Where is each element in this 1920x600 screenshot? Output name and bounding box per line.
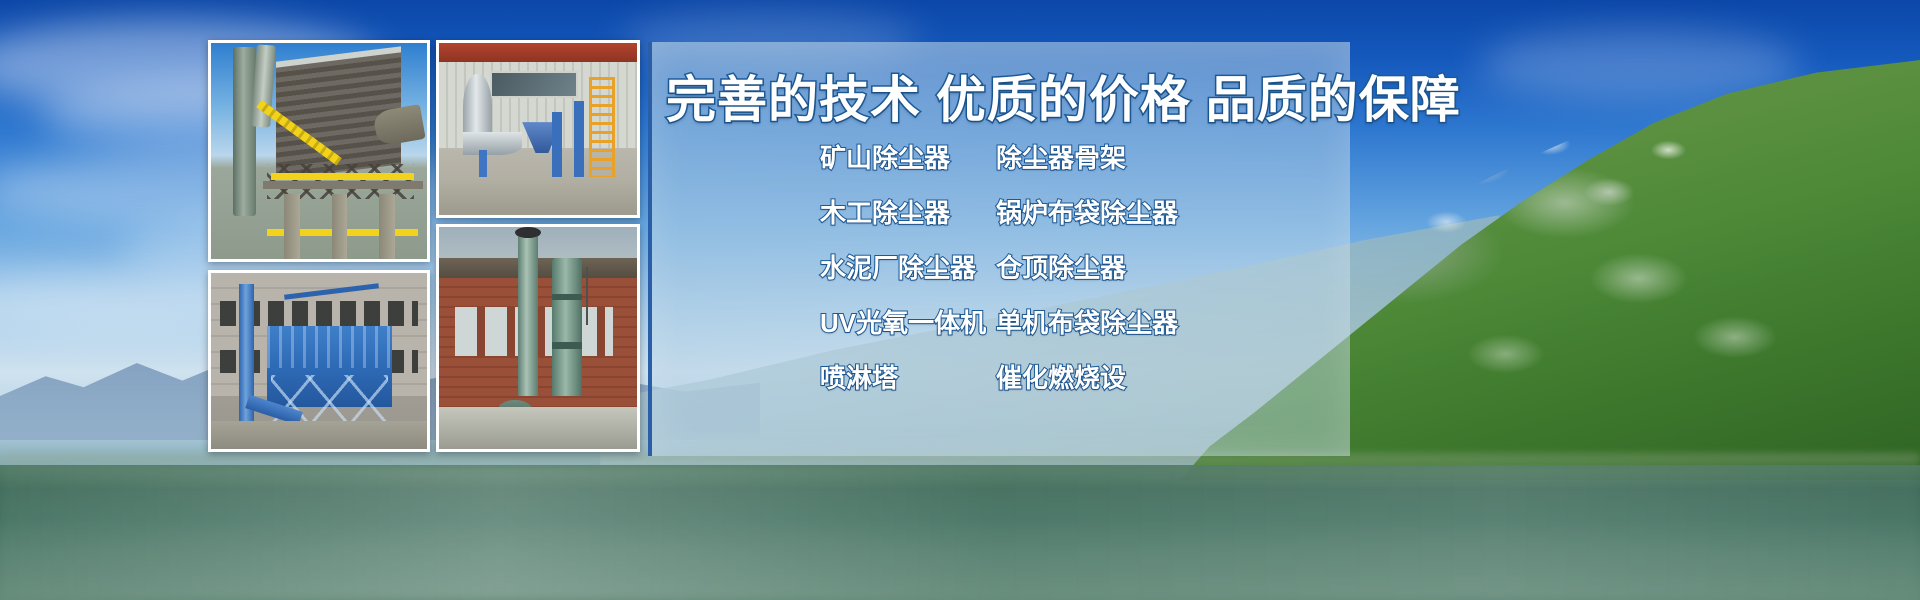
platform-deck [263,181,423,189]
product-name-left: 木工除尘器 [820,193,996,230]
product-photo-4[interactable] [436,224,640,452]
concrete-column [284,194,299,259]
product-name-left: 喷淋塔 [820,358,996,395]
product-photo-2[interactable] [436,40,640,218]
product-photo-1[interactable] [208,40,430,262]
blue-bag-filter-unit-image [211,273,427,449]
tall-exhaust-stack [518,231,538,395]
product-photo-3[interactable] [208,270,430,452]
orange-ladder [589,77,615,184]
scrubber-tower [552,258,582,396]
workshop-window [490,71,577,99]
housing-ribs [267,326,392,368]
ground-surface [439,177,637,215]
scrubber-towers-brick-plant-image [439,227,637,449]
product-photo-grid [208,40,640,452]
product-name-right: 单机布袋除尘器 [996,303,1178,340]
chimney-stack-icon [233,47,257,215]
stack-cap [515,227,541,238]
text-panel: 完善的技术 优质的价格 品质的保障 矿山除尘器 除尘器骨架 木工除尘器 锅炉布袋… [648,42,1350,456]
product-row: 矿山除尘器 除尘器骨架 [820,138,1340,175]
water-reflection [0,465,1920,600]
tower-band [552,342,582,349]
product-list: 矿山除尘器 除尘器骨架 木工除尘器 锅炉布袋除尘器 水泥厂除尘器 仓顶除尘器 U… [820,138,1340,413]
banner-headline: 完善的技术 优质的价格 品质的保障 [666,60,1338,132]
yellow-handrail [271,173,414,180]
ground-surface [211,421,427,449]
ground-surface [439,407,637,449]
product-name-right: 锅炉布袋除尘器 [996,193,1178,230]
roof-eave [439,258,637,278]
baghouse-dust-collector-plant-image [211,43,427,259]
product-row: 水泥厂除尘器 仓顶除尘器 [820,248,1340,285]
silver-duct-run [463,132,522,154]
concrete-column [332,194,347,259]
product-name-right: 除尘器骨架 [996,138,1126,175]
product-row: 喷淋塔 催化燃烧设 [820,358,1340,395]
product-name-right: 催化燃烧设 [996,358,1126,395]
product-row: UV光氧一体机 单机布袋除尘器 [820,303,1340,340]
product-name-left: 矿山除尘器 [820,138,996,175]
workshop-duct-and-hopper-image [439,43,637,215]
tower-band [552,294,582,301]
promo-banner: 完善的技术 优质的价格 品质的保障 矿山除尘器 除尘器骨架 木工除尘器 锅炉布袋… [0,0,1920,600]
product-name-right: 仓顶除尘器 [996,248,1126,285]
product-name-left: UV光氧一体机 [820,303,996,340]
red-roof-band [439,43,637,62]
product-name-left: 水泥厂除尘器 [820,248,996,285]
antenna-mast [586,267,588,325]
concrete-column [379,194,394,259]
product-row: 木工除尘器 锅炉布袋除尘器 [820,193,1340,230]
